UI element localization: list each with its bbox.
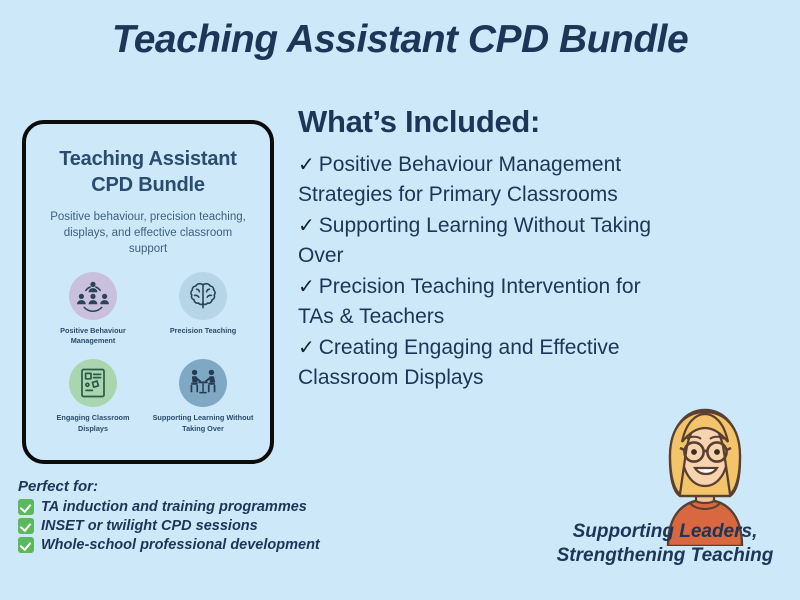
poster-display-icon: [69, 359, 117, 407]
perfect-for-label: Perfect for:: [18, 478, 398, 495]
whats-included-heading: What’s Included:: [298, 104, 540, 140]
people-network-icon: [69, 272, 117, 320]
list-item: ✓Creating Engaging and Effective Classro…: [298, 333, 658, 394]
green-checkbox-icon: [18, 518, 34, 534]
list-item: ✓Positive Behaviour Management Strategie…: [298, 150, 658, 211]
feature-cell-positive-behaviour: Positive Behaviour Management: [38, 272, 148, 347]
list-item: TA induction and training programmes: [18, 499, 398, 515]
tagline-line-1: Supporting Leaders,: [540, 520, 790, 544]
perfect-for-block: Perfect for: TA induction and training p…: [18, 478, 398, 556]
list-item-label: Supporting Learning Without Taking Over: [298, 214, 651, 267]
two-people-at-table-icon: [179, 359, 227, 407]
feature-cell-classroom-displays: Engaging Classroom Displays: [38, 359, 148, 434]
list-item-label: Positive Behaviour Management Strategies…: [298, 153, 621, 206]
brain-icon: [179, 272, 227, 320]
list-item: ✓Supporting Learning Without Taking Over: [298, 211, 658, 272]
list-item-label: Whole-school professional development: [41, 537, 320, 553]
feature-caption: Engaging Classroom Displays: [41, 413, 145, 434]
green-checkbox-icon: [18, 537, 34, 553]
check-icon: ✓: [298, 337, 319, 359]
check-icon: ✓: [298, 215, 319, 237]
tagline-line-2: Strengthening Teaching: [540, 544, 790, 568]
feature-caption: Supporting Learning Without Taking Over: [151, 413, 255, 434]
feature-cell-supporting-learning: Supporting Learning Without Taking Over: [148, 359, 258, 434]
green-checkbox-icon: [18, 499, 34, 515]
product-card: Teaching Assistant CPD Bundle Positive b…: [22, 120, 274, 464]
list-item-label: INSET or twilight CPD sessions: [41, 518, 258, 534]
list-item: Whole-school professional development: [18, 537, 398, 553]
list-item: ✓Precision Teaching Intervention for TAs…: [298, 272, 658, 333]
page-title: Teaching Assistant CPD Bundle: [0, 18, 800, 62]
card-title: Teaching Assistant CPD Bundle: [38, 146, 258, 199]
list-item-label: TA induction and training programmes: [41, 499, 307, 515]
check-icon: ✓: [298, 276, 319, 298]
list-item-label: Precision Teaching Intervention for TAs …: [298, 275, 641, 328]
check-icon: ✓: [298, 154, 319, 176]
feature-cell-precision-teaching: Precision Teaching: [148, 272, 258, 347]
list-item-label: Creating Engaging and Effective Classroo…: [298, 336, 620, 389]
feature-caption: Precision Teaching: [170, 326, 236, 337]
whats-included-list: ✓Positive Behaviour Management Strategie…: [298, 150, 658, 394]
feature-icon-grid: Positive Behaviour Management Pre: [38, 272, 258, 434]
list-item: INSET or twilight CPD sessions: [18, 518, 398, 534]
feature-caption: Positive Behaviour Management: [41, 326, 145, 347]
card-subtitle: Positive behaviour, precision teaching, …: [38, 209, 258, 258]
tagline: Supporting Leaders, Strengthening Teachi…: [540, 520, 790, 569]
